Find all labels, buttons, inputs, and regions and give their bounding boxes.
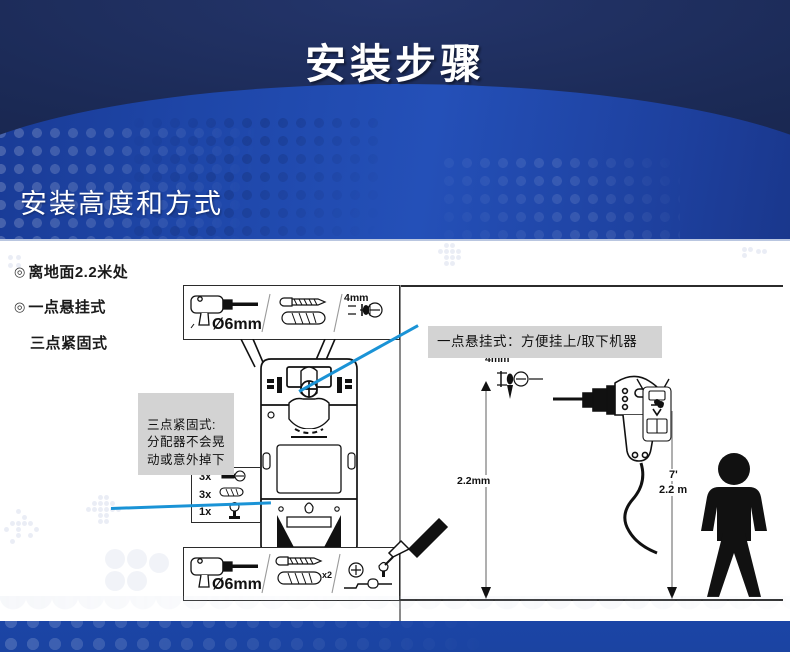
quantity-row-label: 1x: [199, 506, 211, 518]
person-height-imperial-label: 7': [667, 469, 680, 481]
person-height-dimension-line: [659, 409, 685, 601]
three-point-callout: 三点紧固式: 分配器不会晃 动或意外掉下: [138, 393, 234, 475]
screw-and-anchor-icon: [280, 298, 325, 324]
bullet-item: 三点紧固式: [14, 334, 184, 354]
one-point-callout-text: 一点悬挂式：方便挂上/取下机器: [437, 334, 637, 349]
bullet-item: ◎ 离地面2.2米处: [14, 263, 184, 283]
top-strip-drill-label: Ø6mm: [212, 316, 262, 334]
person-height-metric-label: 2.2 m: [657, 484, 689, 496]
bullet-marker-icon: ◎: [14, 298, 25, 316]
quantity-box: 3x 3x 1x: [191, 467, 261, 523]
mount-height-dimension-line: [471, 381, 501, 601]
ground-texture-pattern: [0, 596, 790, 622]
bullet-marker-icon: ◎: [14, 263, 25, 281]
screw-head-gauge-icon: [348, 303, 382, 317]
header-dot-pattern-dark: [130, 114, 380, 240]
three-point-callout-text: 三点紧固式: 分配器不会晃 动或意外掉下: [147, 418, 225, 467]
top-parts-strip: Ø6mm 4mm: [183, 285, 400, 340]
bottom-parts-strip: Ø6mm x2: [183, 547, 400, 601]
page-title: 安装步骤: [0, 30, 790, 90]
screwdriver-tool-icon: [379, 517, 449, 569]
bullet-list: ◎ 离地面2.2米处 ◎ 一点悬挂式 三点紧固式: [14, 263, 184, 369]
person-silhouette-icon: [693, 451, 775, 601]
bottom-strip-anchor-qty-label: x2: [322, 570, 332, 580]
section-subtitle: 安装高度和方式: [20, 182, 223, 221]
bullet-item: ◎ 一点悬挂式: [14, 298, 184, 318]
header-dot-pattern-right: [440, 154, 680, 240]
diagram-top-rule: [399, 285, 783, 287]
bullet-text: 一点悬挂式: [28, 298, 106, 318]
bottom-strip-drill-label: Ø6mm: [212, 576, 262, 594]
one-point-callout: 一点悬挂式：方便挂上/取下机器: [428, 326, 662, 358]
footer-dot-pattern: [0, 621, 500, 652]
slide-page: 安装步骤 安装高度和方式: [0, 0, 790, 652]
bullet-text: 离地面2.2米处: [28, 263, 128, 283]
mount-height-label: 2.2mm: [455, 475, 492, 487]
bullet-text: 三点紧固式: [30, 334, 108, 354]
top-strip-gauge-label: 4mm: [344, 292, 369, 304]
quantity-row-label: 3x: [199, 489, 211, 501]
screw-and-anchor-icon: [276, 557, 321, 584]
header-banner: 安装步骤 安装高度和方式: [0, 0, 790, 240]
footer-band: [0, 621, 790, 652]
content-area: ◎ 离地面2.2米处 ◎ 一点悬挂式 三点紧固式: [0, 241, 790, 621]
